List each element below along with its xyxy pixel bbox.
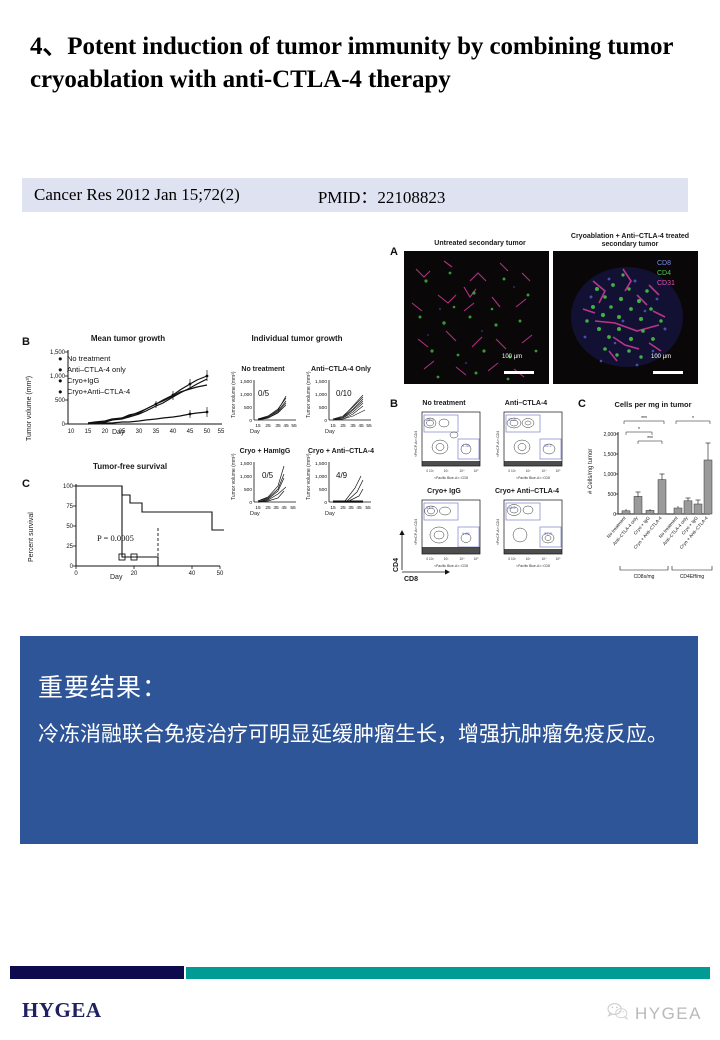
svg-text:10⁴: 10⁴ (542, 469, 548, 473)
svg-text:35: 35 (348, 505, 354, 511)
flow-gate-top-2: 31.7 (426, 505, 435, 510)
group-label-cd8: CD8s/mg (634, 574, 655, 580)
svg-text:1,500: 1,500 (315, 379, 327, 385)
svg-text:0: 0 (62, 422, 66, 428)
flow-plot-cryo-anti-ctla4: 46.2 37.3 0 10²10³10⁴10⁵ <Pacific Blue-A… (488, 497, 566, 571)
subpanel-title-no-treatment: No treatment (232, 366, 294, 374)
svg-text:<PerCP-A>::CD4: <PerCP-A>::CD4 (496, 519, 500, 545)
svg-text:25: 25 (340, 505, 346, 511)
svg-text:35: 35 (275, 423, 281, 429)
svg-text:0: 0 (74, 571, 78, 576)
svg-text:30: 30 (136, 429, 143, 435)
svg-text:45: 45 (281, 505, 287, 511)
marker-cd4: CD4 (657, 269, 675, 279)
legend-item: ●Cryo+IgG (58, 376, 130, 387)
svg-text:20: 20 (131, 571, 138, 576)
svg-text:10³: 10³ (526, 469, 531, 473)
flow-title-anti-ctla4: Anti–CTLA-4 (494, 400, 558, 408)
svg-text:55: 55 (291, 423, 297, 429)
flow-plot-cryo-igg: 31.7 9.65 0 10²10³10⁴10⁵ <Pacific Blue-A… (406, 497, 484, 571)
panel-letter-a: A (390, 246, 398, 258)
panel-b-mean-ylabel: Tumor volume (mm³) (26, 376, 33, 441)
svg-text:0: 0 (613, 512, 616, 518)
svg-text:25: 25 (265, 423, 271, 429)
svg-text:500: 500 (608, 492, 617, 498)
svg-text:10⁴: 10⁴ (460, 557, 466, 561)
flow-plot-no-treatment: 25.3 9.38 0 10²10³10⁴10⁵ <Pacific Blue-A… (406, 409, 484, 483)
footer-brand-right-text: HYGEA (635, 1004, 702, 1024)
footer-brand-left: HYGEA (22, 998, 102, 1023)
svg-text:0 10²: 0 10² (426, 557, 433, 561)
subpanel-ylabel-3: Tumor volume (mm³) (231, 454, 237, 500)
histology-image-untreated: 100 µm (404, 251, 549, 384)
marker-cd31: CD31 (657, 279, 675, 289)
svg-text:1,500: 1,500 (240, 379, 252, 385)
panel-letter-b-flow: B (390, 398, 398, 410)
flow-axis-arrow-x (400, 566, 456, 578)
subpanel-fraction-cryo-hamigg: 0/5 (262, 471, 273, 480)
sig-1: *** (641, 416, 647, 422)
svg-text:500: 500 (319, 487, 327, 493)
key-result-box: 重要结果： 冷冻消融联合免疫治疗可明显延缓肿瘤生长，增强抗肿瘤免疫反应。 (20, 636, 698, 844)
svg-text:1,000: 1,000 (603, 472, 616, 478)
footer-brand-right: HYGEA (607, 1002, 702, 1026)
svg-text:10³: 10³ (444, 557, 449, 561)
flow-gate-right-1: 26.2 (544, 443, 553, 448)
svg-text:25: 25 (119, 429, 126, 435)
flow-title-no-treatment: No treatment (412, 400, 476, 408)
citation-pmid: PMID：22108823 (318, 183, 446, 208)
svg-text:35: 35 (273, 505, 279, 511)
subpanel-title-cryo-anti-ctla4: Cryo + Anti–CTLA-4 (303, 448, 379, 456)
svg-text:<Pacific Blue-A>::CD8: <Pacific Blue-A>::CD8 (516, 476, 550, 480)
footer-bar-teal (186, 967, 710, 979)
panel-letter-b-mean: B (22, 336, 30, 348)
group-label-cd4: CD4Eff/mg (680, 574, 705, 580)
svg-text:<PerCP-A>::CD4: <PerCP-A>::CD4 (496, 431, 500, 457)
panel-letter-c-survival: C (22, 478, 30, 490)
panel-b-mean-title: Mean tumor growth (58, 334, 198, 344)
marker-cd8: CD8 (657, 259, 675, 269)
subpanel-fraction-cryo-anti-ctla4: 4/9 (336, 471, 347, 480)
svg-text:0: 0 (70, 564, 74, 570)
sig-4: * (692, 416, 694, 422)
svg-text:1,000: 1,000 (315, 392, 327, 398)
figure-composite: B Mean tumor growth Tumor volume (mm³) D… (0, 226, 720, 606)
subpanel-ylabel-4: Tumor volume (mm³) (306, 454, 312, 500)
svg-text:0: 0 (324, 500, 327, 506)
svg-text:25: 25 (66, 544, 73, 550)
footer-bar-navy (10, 966, 184, 979)
subpanel-xlabel-2: Day (325, 429, 335, 435)
histology-marker-legend: CD8 CD4 CD31 (657, 259, 675, 289)
svg-text:500: 500 (244, 487, 252, 493)
svg-text:50: 50 (204, 429, 211, 435)
svg-text:500: 500 (319, 405, 327, 411)
svg-text:25: 25 (265, 505, 271, 511)
citation-journal: Cancer Res 2012 Jan 15;72(2) (34, 185, 240, 205)
svg-text:1,500: 1,500 (603, 452, 616, 458)
subpanel-xlabel-1: Day (250, 429, 260, 435)
svg-text:2,000: 2,000 (603, 432, 616, 438)
histology-image-treated: 100 µm CD8 CD4 CD31 (553, 251, 698, 384)
panel-c-bars-title: Cells per mg in tumor (598, 400, 708, 409)
svg-text:1,500: 1,500 (240, 461, 252, 467)
key-result-body: 冷冻消融联合免疫治疗可明显延缓肿瘤生长，增强抗肿瘤免疫反应。 (38, 718, 678, 751)
svg-text:50: 50 (217, 571, 224, 576)
subpanel-chart-cryo-hamigg: 0500 1,0001,500 152535 4555 (228, 458, 300, 518)
svg-text:10⁵: 10⁵ (474, 557, 480, 561)
key-result-heading: 重要结果： (38, 668, 168, 704)
svg-text:10⁵: 10⁵ (556, 557, 562, 561)
svg-text:55: 55 (290, 505, 296, 511)
svg-text:0 10²: 0 10² (426, 469, 433, 473)
svg-text:10: 10 (68, 429, 75, 435)
svg-text:55: 55 (218, 429, 225, 435)
subpanel-chart-anti-ctla4: 0500 1,0001,500 152535 4555 (303, 376, 375, 436)
svg-text:<Pacific Blue-A>::CD8: <Pacific Blue-A>::CD8 (516, 564, 550, 568)
svg-text:10³: 10³ (526, 557, 531, 561)
svg-text:10³: 10³ (444, 469, 449, 473)
wechat-icon (607, 1002, 629, 1026)
subpanel-xlabel-3: Day (250, 511, 260, 517)
svg-text:45: 45 (356, 505, 362, 511)
legend-item: ●Cryo+Anti–CTLA-4 (58, 387, 130, 398)
svg-text:50: 50 (66, 524, 73, 530)
svg-text:35: 35 (153, 429, 160, 435)
svg-text:45: 45 (358, 423, 364, 429)
svg-text:0: 0 (324, 418, 327, 424)
svg-text:0 10²: 0 10² (508, 469, 515, 473)
panel-letter-c-bars: C (578, 398, 586, 410)
svg-text:55: 55 (366, 423, 372, 429)
svg-text:0: 0 (249, 418, 252, 424)
svg-text:35: 35 (350, 423, 356, 429)
subpanel-xlabel-4: Day (325, 511, 335, 517)
svg-text:100: 100 (63, 484, 74, 490)
flow-plot-anti-ctla4: 32.2 26.2 0 10²10³10⁴10⁵ <Pacific Blue-A… (488, 409, 566, 483)
subpanel-ylabel-1: Tumor volume (mm³) (231, 372, 237, 418)
svg-text:0: 0 (249, 500, 252, 506)
svg-text:40: 40 (170, 429, 177, 435)
subpanel-title-anti-ctla4: Anti–CTLA-4 Only (306, 366, 376, 374)
subpanel-fraction-anti-ctla4: 0/10 (336, 389, 352, 398)
svg-text:1,000: 1,000 (240, 474, 252, 480)
svg-text:10⁴: 10⁴ (460, 469, 466, 473)
scalebar-label-untreated: 100 µm (502, 354, 522, 360)
histology-title-untreated: Untreated secondary tumor (410, 240, 550, 248)
svg-text:1,500: 1,500 (315, 461, 327, 467)
panel-c-bars-chart: 0500 1,0001,5002,000 (594, 410, 714, 590)
scalebar-label-treated: 100 µm (651, 354, 671, 360)
svg-text:40: 40 (189, 571, 196, 576)
citation-bar: Cancer Res 2012 Jan 15;72(2) PMID：221088… (22, 178, 688, 212)
panel-c-survival-pvalue: P = 0.0005 (97, 533, 134, 543)
svg-text:0 10²: 0 10² (508, 557, 515, 561)
svg-text:1,000: 1,000 (240, 392, 252, 398)
svg-text:45: 45 (187, 429, 194, 435)
sig-3: *** (647, 436, 653, 442)
panel-c-survival-title: Tumor-free survival (60, 462, 200, 472)
subpanel-chart-no-treatment: 0500 1,0001,500 152535 4555 (228, 376, 300, 436)
page-title: 4、Potent induction of tumor immunity by … (30, 30, 690, 96)
svg-text:10⁵: 10⁵ (474, 469, 480, 473)
svg-text:55: 55 (365, 505, 371, 511)
svg-text:45: 45 (283, 423, 289, 429)
subpanel-ylabel-2: Tumor volume (mm³) (306, 372, 312, 418)
svg-text:1,000: 1,000 (315, 474, 327, 480)
subpanel-fraction-no-treatment: 0/5 (258, 389, 269, 398)
svg-text:25: 25 (340, 423, 346, 429)
svg-text:10⁴: 10⁴ (542, 557, 548, 561)
panel-b-mean-legend: ●No treatment ●Anti–CTLA-4 only ●Cryo+Ig… (58, 354, 130, 398)
flow-title-cryo-anti-ctla4: Cryo+ Anti–CTLA-4 (492, 488, 562, 496)
panel-c-survival-chart: 025 5075100 020 4050 (34, 476, 234, 576)
svg-text:<Pacific Blue-A>::CD8: <Pacific Blue-A>::CD8 (434, 476, 468, 480)
svg-text:15: 15 (85, 429, 92, 435)
svg-text:<PerCP-A>::CD4: <PerCP-A>::CD4 (414, 431, 418, 457)
subpanel-chart-cryo-anti-ctla4: 0500 1,0001,500 152535 4555 (303, 458, 375, 518)
legend-item: ●Anti–CTLA-4 only (58, 365, 130, 376)
individual-growth-title: Individual tumor growth (237, 334, 357, 344)
svg-text:<PerCP-A>::CD4: <PerCP-A>::CD4 (414, 519, 418, 545)
svg-text:75: 75 (66, 504, 73, 510)
legend-item: ●No treatment (58, 354, 130, 365)
subpanel-title-cryo-hamigg: Cryo + HamIgG (232, 448, 298, 456)
histology-title-treated: Cryoablation + Anti–CTLA-4 treated secon… (560, 233, 700, 250)
svg-text:10⁵: 10⁵ (556, 469, 562, 473)
svg-text:500: 500 (55, 398, 66, 404)
flow-title-cryo-igg: Cryo+ IgG (412, 488, 476, 496)
sig-2: * (638, 427, 640, 433)
svg-text:20: 20 (102, 429, 109, 435)
svg-text:500: 500 (244, 405, 252, 411)
